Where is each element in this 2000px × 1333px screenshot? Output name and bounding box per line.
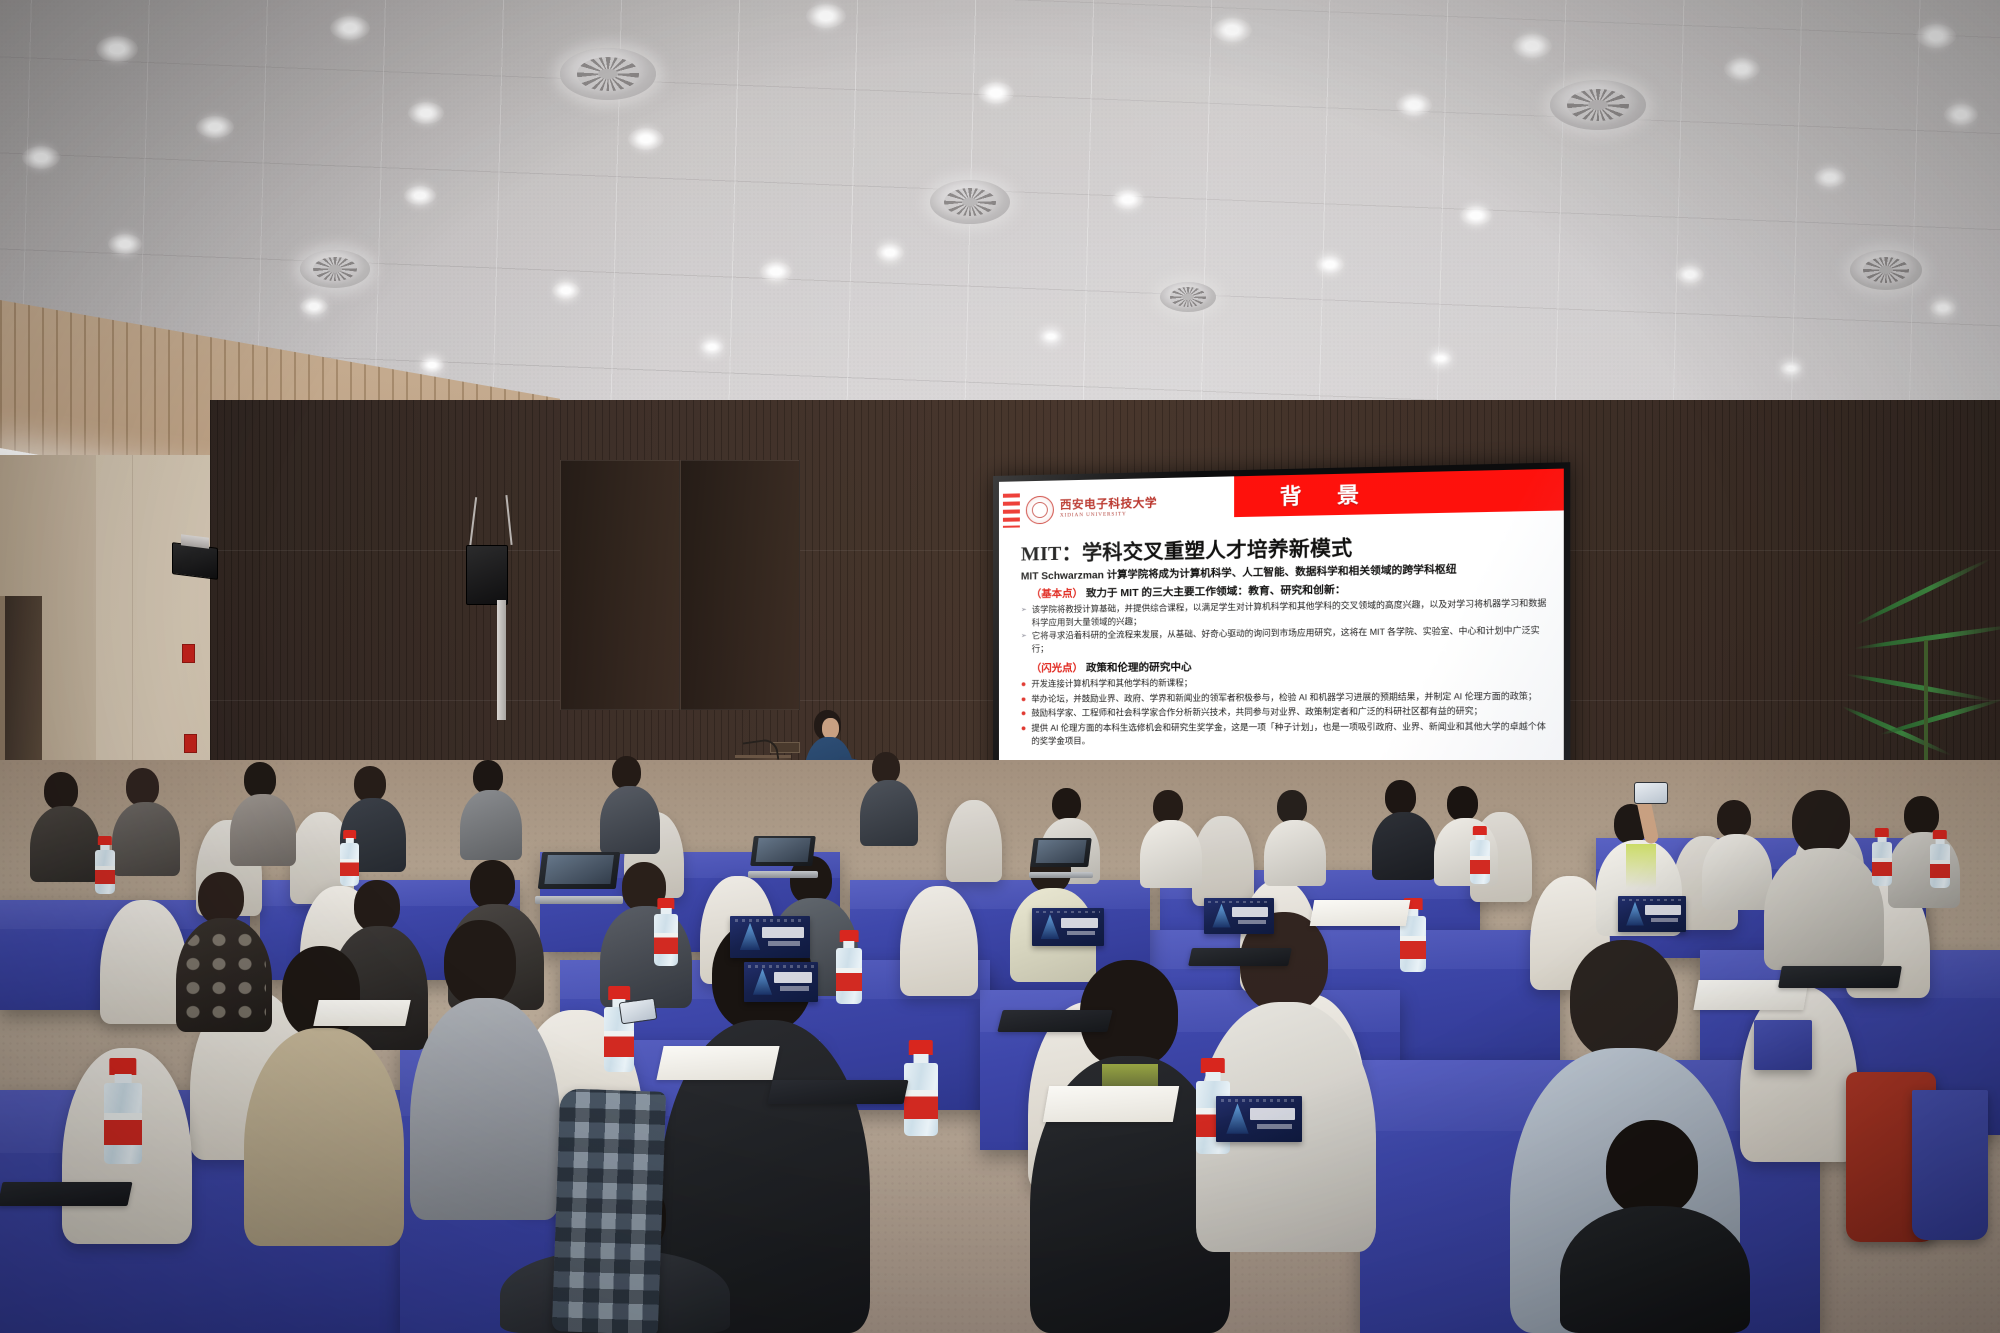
- audience-torso: [1560, 1206, 1750, 1333]
- audience-head: [470, 860, 515, 910]
- recessed-downlight: [1212, 18, 1252, 42]
- recessed-downlight: [1724, 58, 1760, 80]
- name-placard: [1216, 1096, 1302, 1142]
- bottle-label: [104, 1113, 142, 1145]
- conference-hall-photo: 背 景 西安电子科技大学 XIDIAN UNIVERSITY MIT：学科交叉重…: [0, 0, 2000, 1333]
- water-bottle[interactable]: [904, 1040, 938, 1136]
- presenter-face: [822, 718, 839, 739]
- recessed-downlight: [1814, 168, 1846, 187]
- laptop-lid: [538, 852, 621, 889]
- audience-head: [198, 872, 244, 924]
- placard-ai-logo: [740, 923, 761, 951]
- placard-ai-logo: [1041, 914, 1060, 939]
- bottle-label: [1930, 860, 1950, 877]
- side-door[interactable]: [0, 596, 42, 776]
- recessed-downlight: [408, 102, 444, 124]
- bottle-label: [1470, 856, 1490, 873]
- palm-frond: [1846, 672, 1995, 703]
- audience-torso: [860, 780, 918, 846]
- fire-alarm-icon: [184, 734, 197, 753]
- name-placard: [1204, 898, 1274, 934]
- audience-member: [460, 760, 522, 860]
- bottle-label: [95, 866, 115, 883]
- audience-member: [860, 752, 918, 846]
- ceiling-air-vent: [1850, 250, 1922, 290]
- document-folder[interactable]: [1778, 966, 1902, 988]
- logo-stripes-icon: [1003, 493, 1020, 527]
- bullet-dot-icon: ●: [1021, 722, 1026, 747]
- chair: [100, 900, 188, 1024]
- recessed-downlight: [1396, 94, 1432, 116]
- water-bottle[interactable]: [340, 830, 359, 886]
- audience-torso: [600, 786, 660, 854]
- water-bottle[interactable]: [654, 898, 678, 966]
- recessed-downlight: [1944, 104, 1978, 125]
- water-bottle[interactable]: [604, 986, 634, 1072]
- recessed-downlight: [700, 340, 724, 354]
- slide-bullet: ● 举办论坛，并鼓励业界、政府、学界和新闻业的领军者积极参与，检验 AI 和机器…: [1021, 689, 1551, 706]
- ceiling-speaker: [172, 542, 218, 580]
- audience-head: [1385, 780, 1416, 815]
- audience-head: [354, 880, 400, 932]
- audience-member: [1264, 790, 1326, 886]
- bullet-dot-icon: ●: [1021, 693, 1026, 707]
- laptop-base: [535, 896, 622, 904]
- name-placard: [744, 962, 818, 1002]
- recessed-downlight: [1916, 24, 1956, 48]
- recessed-downlight: [978, 82, 1014, 104]
- audience-member: [1764, 790, 1884, 970]
- name-placard: [1032, 908, 1104, 946]
- water-bottle[interactable]: [95, 836, 115, 894]
- audience-member: [600, 756, 660, 854]
- audience-head: [1570, 940, 1678, 1060]
- audience-member: [1372, 780, 1436, 880]
- audience-torso: [30, 806, 100, 882]
- recessed-downlight: [1316, 256, 1344, 273]
- tote-bag: [1912, 1090, 1988, 1240]
- ceiling-air-vent: [560, 48, 656, 100]
- recessed-downlight: [1112, 190, 1144, 209]
- chair: [900, 886, 978, 996]
- slide-section2-heading: （闪光点） 政策和伦理的研究中心: [1031, 655, 1551, 675]
- logo-institution-en: XIDIAN UNIVERSITY: [1060, 512, 1157, 519]
- notepad: [313, 1000, 411, 1026]
- audience-torso: [460, 790, 522, 860]
- recessed-downlight: [196, 116, 234, 138]
- bottle-cap: [1201, 1058, 1225, 1073]
- bottle-label: [604, 1031, 634, 1057]
- bullet-dot-icon: ●: [1021, 678, 1026, 692]
- audience-head: [1447, 786, 1478, 821]
- tote-bag: [1754, 1020, 1812, 1070]
- audience-head: [244, 762, 276, 798]
- bullet-dot-icon: ●: [1021, 707, 1026, 721]
- ceiling-air-vent: [300, 250, 370, 288]
- audience-head: [354, 766, 386, 802]
- recessed-downlight: [420, 358, 444, 372]
- bottle-cap: [109, 1058, 136, 1075]
- slide-section1-tag: （基本点）: [1031, 589, 1083, 601]
- slide-section1-text: 致力于 MIT 的三大主要工作领域：教育、研究和创新：: [1086, 585, 1346, 600]
- ceiling-air-vent: [930, 180, 1010, 224]
- water-bottle[interactable]: [836, 930, 862, 1004]
- slide-banner-title: 背 景: [1280, 478, 1374, 511]
- recessed-downlight: [552, 282, 580, 299]
- audience-torso: [1264, 820, 1326, 886]
- logo-institution-cn: 西安电子科技大学: [1060, 498, 1157, 512]
- notepad: [656, 1046, 779, 1080]
- logo-seal-icon: [1026, 496, 1054, 525]
- ceiling-air-vent: [1550, 80, 1646, 130]
- speaker-bracket: [181, 534, 209, 548]
- notepad: [1043, 1086, 1179, 1122]
- placard-ai-logo: [1212, 904, 1230, 928]
- slide-bullet-text: 它将寻求沿着科研的全流程来发展，从基础、好奇心驱动的询问到市场应用研究，这将在 …: [1032, 624, 1551, 655]
- audience-member: [112, 768, 180, 876]
- lanyard: [1626, 844, 1656, 888]
- laptop[interactable]: [1032, 838, 1090, 878]
- recessed-downlight: [1512, 34, 1552, 58]
- audience-member: [244, 946, 404, 1246]
- laptop-screen: [545, 855, 614, 884]
- audience-head: [473, 760, 503, 794]
- recessed-downlight: [1930, 300, 1956, 316]
- laptop-screen: [1035, 840, 1086, 862]
- audience-head: [444, 920, 516, 1006]
- fire-alarm-icon: [182, 644, 195, 663]
- plaid-shirt-on-chair: [552, 1088, 666, 1333]
- recessed-downlight: [876, 244, 904, 261]
- recessed-downlight: [1676, 266, 1704, 283]
- projector-column: [497, 600, 506, 720]
- hanging-speaker: [466, 545, 508, 605]
- presentation-slide: 背 景 西安电子科技大学 XIDIAN UNIVERSITY MIT：学科交叉重…: [999, 469, 1564, 802]
- notepad: [1310, 900, 1411, 926]
- audience-member: [230, 762, 296, 866]
- bullet-arrow-icon: ➢: [1021, 604, 1027, 629]
- audience-head: [612, 756, 641, 789]
- bottle-label: [654, 933, 678, 953]
- bottle-cap: [608, 986, 630, 1000]
- bottle-cap: [909, 1040, 933, 1055]
- slide-title-main: 学科交叉重塑人才培养新模式: [1082, 537, 1352, 564]
- audience-member: [1140, 790, 1202, 888]
- name-placard: [1618, 896, 1686, 932]
- slide-section2-text: 政策和伦理的研究中心: [1086, 663, 1192, 675]
- bottle-label: [1872, 858, 1892, 875]
- laptop-base: [1029, 872, 1094, 878]
- recessed-downlight: [300, 298, 328, 315]
- recessed-downlight: [96, 36, 138, 62]
- slide-bullet-text: 鼓励科学家、工程师和社会科学家合作分析新兴技术，共同参与对业界、政策制定者和广泛…: [1031, 705, 1550, 721]
- audience-head: [44, 772, 78, 810]
- bullet-arrow-icon: ➢: [1021, 630, 1027, 655]
- audience-torso: [1702, 834, 1772, 910]
- laptop-lid: [1030, 838, 1092, 867]
- audience-head: [1717, 800, 1751, 838]
- recessed-downlight: [1780, 362, 1802, 375]
- chair: [946, 800, 1002, 882]
- smartphone[interactable]: [1634, 782, 1668, 804]
- slide-bullet-text: 提供 AI 伦理方面的本科生选修机会和研究生奖学金，这是一项「种子计划」，也是一…: [1031, 720, 1550, 747]
- audience-member: [1702, 800, 1772, 910]
- audience-torso: [1764, 848, 1884, 970]
- audience-member: [30, 772, 100, 882]
- stage-back-door[interactable]: [680, 460, 800, 710]
- slide-title-prefix: MIT：: [1021, 542, 1082, 565]
- recessed-downlight: [1460, 206, 1492, 225]
- audience-head: [1606, 1120, 1698, 1216]
- laptop[interactable]: [540, 852, 618, 904]
- slide-content: MIT：学科交叉重塑人才培养新模式 MIT Schwarzman 计算学院将成为…: [999, 527, 1564, 766]
- bottle-label: [836, 968, 862, 990]
- slide-bullet: ● 提供 AI 伦理方面的本科生选修机会和研究生奖学金，这是一项「种子计划」，也…: [1021, 720, 1551, 747]
- recessed-downlight: [760, 262, 792, 281]
- recessed-downlight: [108, 234, 142, 254]
- audience-head: [126, 768, 159, 806]
- audience-torso: [1372, 812, 1436, 880]
- placard-ai-logo: [1626, 902, 1644, 926]
- audience-torso: [230, 794, 296, 866]
- slide-bullet-text: 举办论坛，并鼓励业界、政府、学界和新闻业的领军者积极参与，检验 AI 和机器学习…: [1031, 689, 1550, 706]
- name-placard: [730, 916, 810, 958]
- bottle-label: [1400, 936, 1426, 958]
- water-bottle[interactable]: [1930, 830, 1950, 888]
- university-logo: 西安电子科技大学 XIDIAN UNIVERSITY: [999, 476, 1234, 540]
- document-folder[interactable]: [767, 1080, 908, 1104]
- laptop-base: [748, 871, 817, 878]
- recessed-downlight: [628, 128, 664, 150]
- laptop-screen: [756, 838, 811, 862]
- audience-torso: [112, 802, 180, 876]
- recessed-downlight: [404, 186, 436, 205]
- recessed-downlight: [1040, 330, 1062, 343]
- water-bottle[interactable]: [1872, 828, 1892, 886]
- ceiling-air-vent: [1160, 282, 1216, 312]
- document-folder[interactable]: [0, 1182, 133, 1206]
- water-bottle[interactable]: [104, 1058, 142, 1164]
- slide-bullet: ➢ 它将寻求沿着科研的全流程来发展，从基础、好奇心驱动的询问到市场应用研究，这将…: [1021, 624, 1551, 655]
- laptop[interactable]: [752, 836, 814, 878]
- audience-torso: [244, 1028, 404, 1246]
- slide-section2-tag: （闪光点）: [1031, 664, 1083, 675]
- recessed-downlight: [330, 16, 370, 40]
- recessed-downlight: [806, 4, 846, 28]
- bottle-label: [904, 1090, 938, 1119]
- document-folder[interactable]: [1188, 948, 1292, 966]
- audience-head: [1792, 790, 1850, 854]
- placard-ai-logo: [753, 968, 772, 994]
- palm-frond: [1879, 696, 2000, 737]
- audience-member: [1560, 1120, 1750, 1333]
- document-folder[interactable]: [997, 1010, 1112, 1032]
- projection-screen: 背 景 西安电子科技大学 XIDIAN UNIVERSITY MIT：学科交叉重…: [993, 462, 1570, 808]
- audience-torso: [1140, 820, 1202, 888]
- recessed-downlight: [1430, 352, 1452, 365]
- placard-ai-logo: [1226, 1103, 1248, 1133]
- recessed-downlight: [22, 146, 60, 169]
- bottle-label: [340, 859, 359, 876]
- audience-head: [1277, 790, 1307, 824]
- audience-head: [1052, 788, 1081, 821]
- bottle-cap: [840, 930, 859, 942]
- water-bottle[interactable]: [1470, 826, 1490, 884]
- laptop-lid: [750, 836, 816, 866]
- slide-bullet: ● 鼓励科学家、工程师和社会科学家合作分析新兴技术，共同参与对业界、政策制定者和…: [1021, 705, 1551, 721]
- stage-back-door[interactable]: [560, 460, 680, 710]
- audience-head: [1153, 790, 1183, 824]
